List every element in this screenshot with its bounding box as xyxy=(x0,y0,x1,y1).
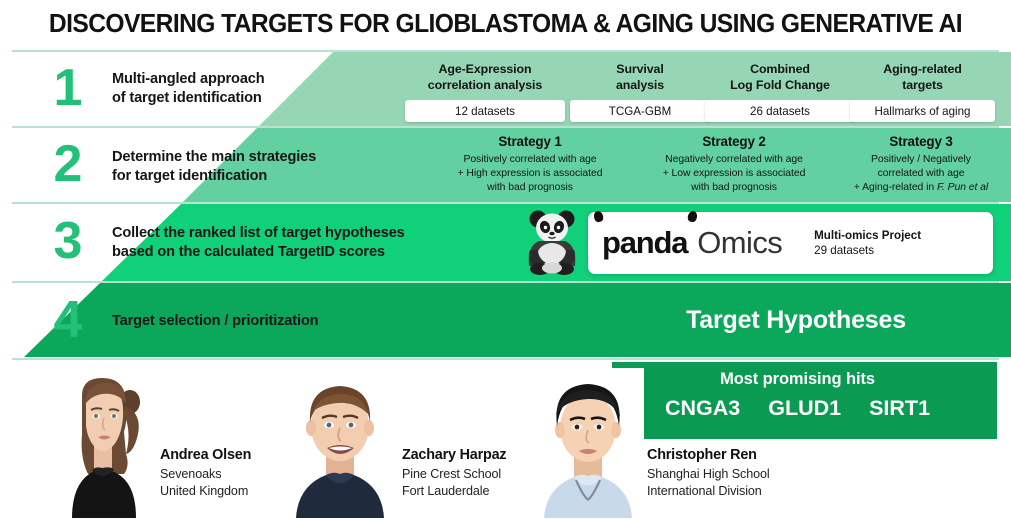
divider-2-3 xyxy=(12,202,999,204)
hit-gene[interactable]: CNGA3 xyxy=(665,396,740,421)
analysis-column-chip[interactable]: TCGA-GBM xyxy=(570,100,710,122)
strategy-body-line: Negatively correlated with age xyxy=(634,153,834,167)
hit-gene[interactable]: GLUD1 xyxy=(768,396,841,421)
strategy-heading: Strategy 1 xyxy=(430,134,630,149)
step-label-3: Collect the ranked list of target hypoth… xyxy=(112,224,452,263)
person-name: Christopher Ren xyxy=(647,447,770,463)
analysis-column-aging-related: Aging-related targets Hallmarks of aging xyxy=(850,62,995,122)
step-number-1: 1 xyxy=(38,62,98,114)
step-label-1: Multi-angled approach of target identifi… xyxy=(112,70,382,109)
analysis-column-chip[interactable]: 12 datasets xyxy=(405,100,565,122)
portrait-photo-christopher-ren xyxy=(532,368,644,518)
project-info: Multi-omics Project 29 datasets xyxy=(814,228,921,259)
most-promising-hits: Most promising hits CNGA3 GLUD1 SIRT1 xyxy=(600,370,995,421)
pandaomics-card[interactable]: panda Omics Multi-omics Project 29 datas… xyxy=(588,212,993,274)
strategy-body-line: + Low expression is associated xyxy=(634,167,834,181)
strategy-body-line: Positively correlated with age xyxy=(430,153,630,167)
strategy-heading: Strategy 3 xyxy=(832,134,1010,149)
wordmark-light: Omics xyxy=(697,225,782,261)
strategy-body-line: with bad prognosis xyxy=(430,181,630,195)
project-title: Multi-omics Project xyxy=(814,228,921,243)
person-name: Zachary Harpaz xyxy=(402,447,506,463)
strategy-body: Positively correlated with age + High ex… xyxy=(430,153,630,194)
divider-1-2 xyxy=(12,126,999,128)
person-info-christopher-ren: Christopher Ren Shanghai High School Int… xyxy=(647,447,770,499)
portrait-photo-andrea-olsen xyxy=(46,370,156,518)
project-subtitle: 29 datasets xyxy=(814,243,921,258)
hits-title: Most promising hits xyxy=(600,370,995,389)
analysis-column-header: Age-Expression correlation analysis xyxy=(405,62,565,93)
strategy-body-line: with bad prognosis xyxy=(634,181,834,195)
person-info-zachary-harpaz: Zachary Harpaz Pine Crest School Fort La… xyxy=(402,447,506,499)
analysis-column-header: Aging-related targets xyxy=(850,62,995,93)
person-line-2: International Division xyxy=(647,483,770,500)
strategy-2: Strategy 2 Negatively correlated with ag… xyxy=(634,134,834,194)
divider-4-bottom xyxy=(12,358,999,360)
divider-top xyxy=(12,50,999,52)
strategy-body-line-text: + Aging-related in xyxy=(854,182,937,193)
analysis-column-age-expression: Age-Expression correlation analysis 12 d… xyxy=(405,62,565,122)
step-number-4: 4 xyxy=(38,294,98,346)
divider-3-4 xyxy=(12,281,999,283)
step-number-2: 2 xyxy=(38,138,98,190)
analysis-column-chip[interactable]: Hallmarks of aging xyxy=(850,100,995,122)
person-name: Andrea Olsen xyxy=(160,447,251,463)
person-line-1: Sevenoaks xyxy=(160,466,251,483)
analysis-column-header: Survival analysis xyxy=(570,62,710,93)
strategy-body-line-with-citation: + Aging-related in F. Pun et al xyxy=(832,181,1010,195)
wordmark-bold: panda xyxy=(602,225,687,260)
strategy-3: Strategy 3 Positively / Negatively corre… xyxy=(832,134,1010,194)
step-number-3: 3 xyxy=(38,215,98,267)
pandaomics-wordmark: panda Omics xyxy=(602,225,782,261)
person-line-1: Shanghai High School xyxy=(647,466,770,483)
analysis-column-survival: Survival analysis TCGA-GBM xyxy=(570,62,710,122)
analysis-column-logfoldchange: Combined Log Fold Change 26 datasets xyxy=(705,62,855,122)
analysis-column-header: Combined Log Fold Change xyxy=(705,62,855,93)
apostrophe-left-icon xyxy=(593,210,604,223)
infographic-poster: DISCOVERING TARGETS FOR GLIOBLASTOMA & A… xyxy=(0,0,1011,520)
portrait-photo-zachary-harpaz xyxy=(282,368,398,518)
person-info-andrea-olsen: Andrea Olsen Sevenoaks United Kingdom xyxy=(160,447,251,499)
panda-mascot-icon xyxy=(516,206,588,278)
strategy-body: Positively / Negatively correlated with … xyxy=(832,153,1010,194)
analysis-column-chip[interactable]: 26 datasets xyxy=(705,100,855,122)
strategy-body: Negatively correlated with age + Low exp… xyxy=(634,153,834,194)
step-label-4: Target selection / prioritization xyxy=(112,312,412,331)
page-title: DISCOVERING TARGETS FOR GLIOBLASTOMA & A… xyxy=(18,2,994,46)
strategy-heading: Strategy 2 xyxy=(634,134,834,149)
person-line-1: Pine Crest School xyxy=(402,466,506,483)
strategy-body-line: correlated with age xyxy=(832,167,1010,181)
strategy-body-line: + High expression is associated xyxy=(430,167,630,181)
hits-gene-list: CNGA3 GLUD1 SIRT1 xyxy=(600,396,995,421)
apostrophe-right-icon xyxy=(687,210,698,223)
citation-reference: F. Pun et al xyxy=(937,182,988,193)
hit-gene[interactable]: SIRT1 xyxy=(869,396,930,421)
step-label-2: Determine the main strategies for target… xyxy=(112,148,397,187)
person-line-2: Fort Lauderdale xyxy=(402,483,506,500)
strategy-1: Strategy 1 Positively correlated with ag… xyxy=(430,134,630,194)
target-hypotheses-banner: Target Hypotheses xyxy=(596,306,996,335)
strategy-body-line: Positively / Negatively xyxy=(832,153,1010,167)
person-line-2: United Kingdom xyxy=(160,483,251,500)
